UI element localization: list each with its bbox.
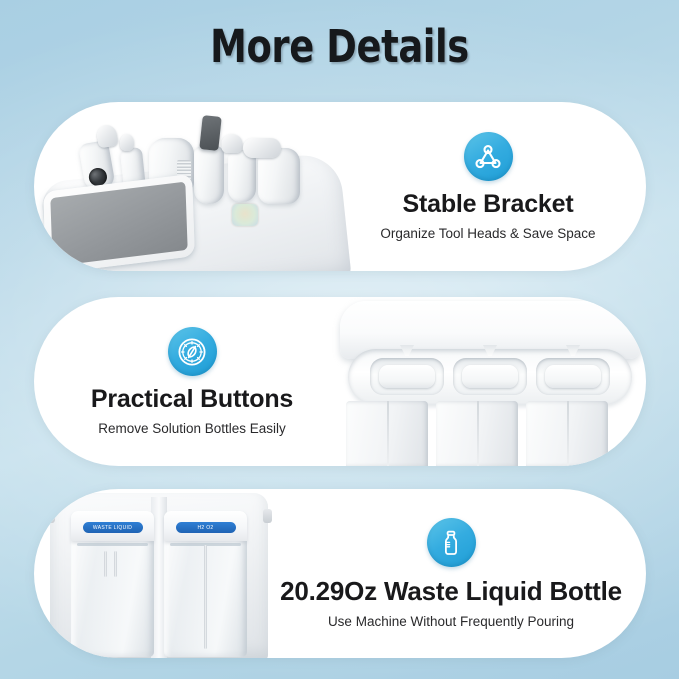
jar-straw xyxy=(114,551,117,577)
slot-tube xyxy=(477,401,479,466)
machine-display-screen xyxy=(43,174,195,271)
feature-title: 20.29Oz Waste Liquid Bottle xyxy=(280,576,622,607)
triangle-network-icon xyxy=(464,132,513,181)
beauty-machine-with-handpieces-photo xyxy=(34,102,354,271)
slot-tube xyxy=(387,401,389,466)
handpiece-4 xyxy=(194,146,224,204)
handpiece-cap-5 xyxy=(222,134,243,153)
waste-liquid-bottles-photo: WASTE LIQUID H2 O2 xyxy=(34,489,284,658)
waste-liquid-label: WASTE LIQUID xyxy=(83,522,143,533)
waste-liquid-jar: WASTE LIQUID xyxy=(71,511,154,657)
feature-card-stable-bracket: Stable Bracket Organize Tool Heads & Sav… xyxy=(34,102,646,271)
housing-knob-left xyxy=(46,509,55,523)
machine-logo xyxy=(232,204,258,226)
solution-bottle-buttons-photo xyxy=(326,297,646,466)
feature-title: Stable Bracket xyxy=(403,190,574,219)
jar-straw xyxy=(104,551,107,577)
solution-bottle-slot-1 xyxy=(346,401,428,466)
feature-title: Practical Buttons xyxy=(91,385,293,414)
feature-subtitle: Organize Tool Heads & Save Space xyxy=(380,226,595,241)
feature-subtitle: Remove Solution Bottles Easily xyxy=(98,421,286,436)
h2o2-jar: H2 O2 xyxy=(164,511,247,657)
h2o2-label: H2 O2 xyxy=(176,522,236,533)
solution-button-2[interactable] xyxy=(453,358,527,395)
slot-tube xyxy=(567,401,569,466)
gauge-dial-icon xyxy=(168,327,217,376)
feature-card-waste-liquid-bottle: WASTE LIQUID H2 O2 xyxy=(34,489,646,658)
button-recess-panel xyxy=(348,349,632,405)
handpiece-cap-1 xyxy=(95,123,119,148)
feature-text-waste-liquid-bottle: 20.29Oz Waste Liquid Bottle Use Machine … xyxy=(256,489,646,658)
bottle-housing: WASTE LIQUID H2 O2 xyxy=(50,493,268,658)
solution-bottle-slot-3 xyxy=(526,401,608,466)
feature-card-practical-buttons: Practical Buttons Remove Solution Bottle… xyxy=(34,297,646,466)
solution-button-1[interactable] xyxy=(370,358,444,395)
feature-text-practical-buttons: Practical Buttons Remove Solution Bottle… xyxy=(34,297,350,466)
feature-text-stable-bracket: Stable Bracket Organize Tool Heads & Sav… xyxy=(330,102,646,271)
solution-button-3[interactable] xyxy=(536,358,610,395)
page-title: More Details xyxy=(61,20,618,74)
bottle-icon xyxy=(427,518,476,567)
handpiece-4-tip xyxy=(199,115,221,151)
solution-bottle-slot-2 xyxy=(436,401,518,466)
handpiece-cap-6 xyxy=(243,138,281,158)
feature-subtitle: Use Machine Without Frequently Pouring xyxy=(328,614,574,629)
handpiece-cap-2 xyxy=(120,134,134,151)
jar-straw xyxy=(204,545,207,649)
jar-liquid-level xyxy=(77,543,148,546)
